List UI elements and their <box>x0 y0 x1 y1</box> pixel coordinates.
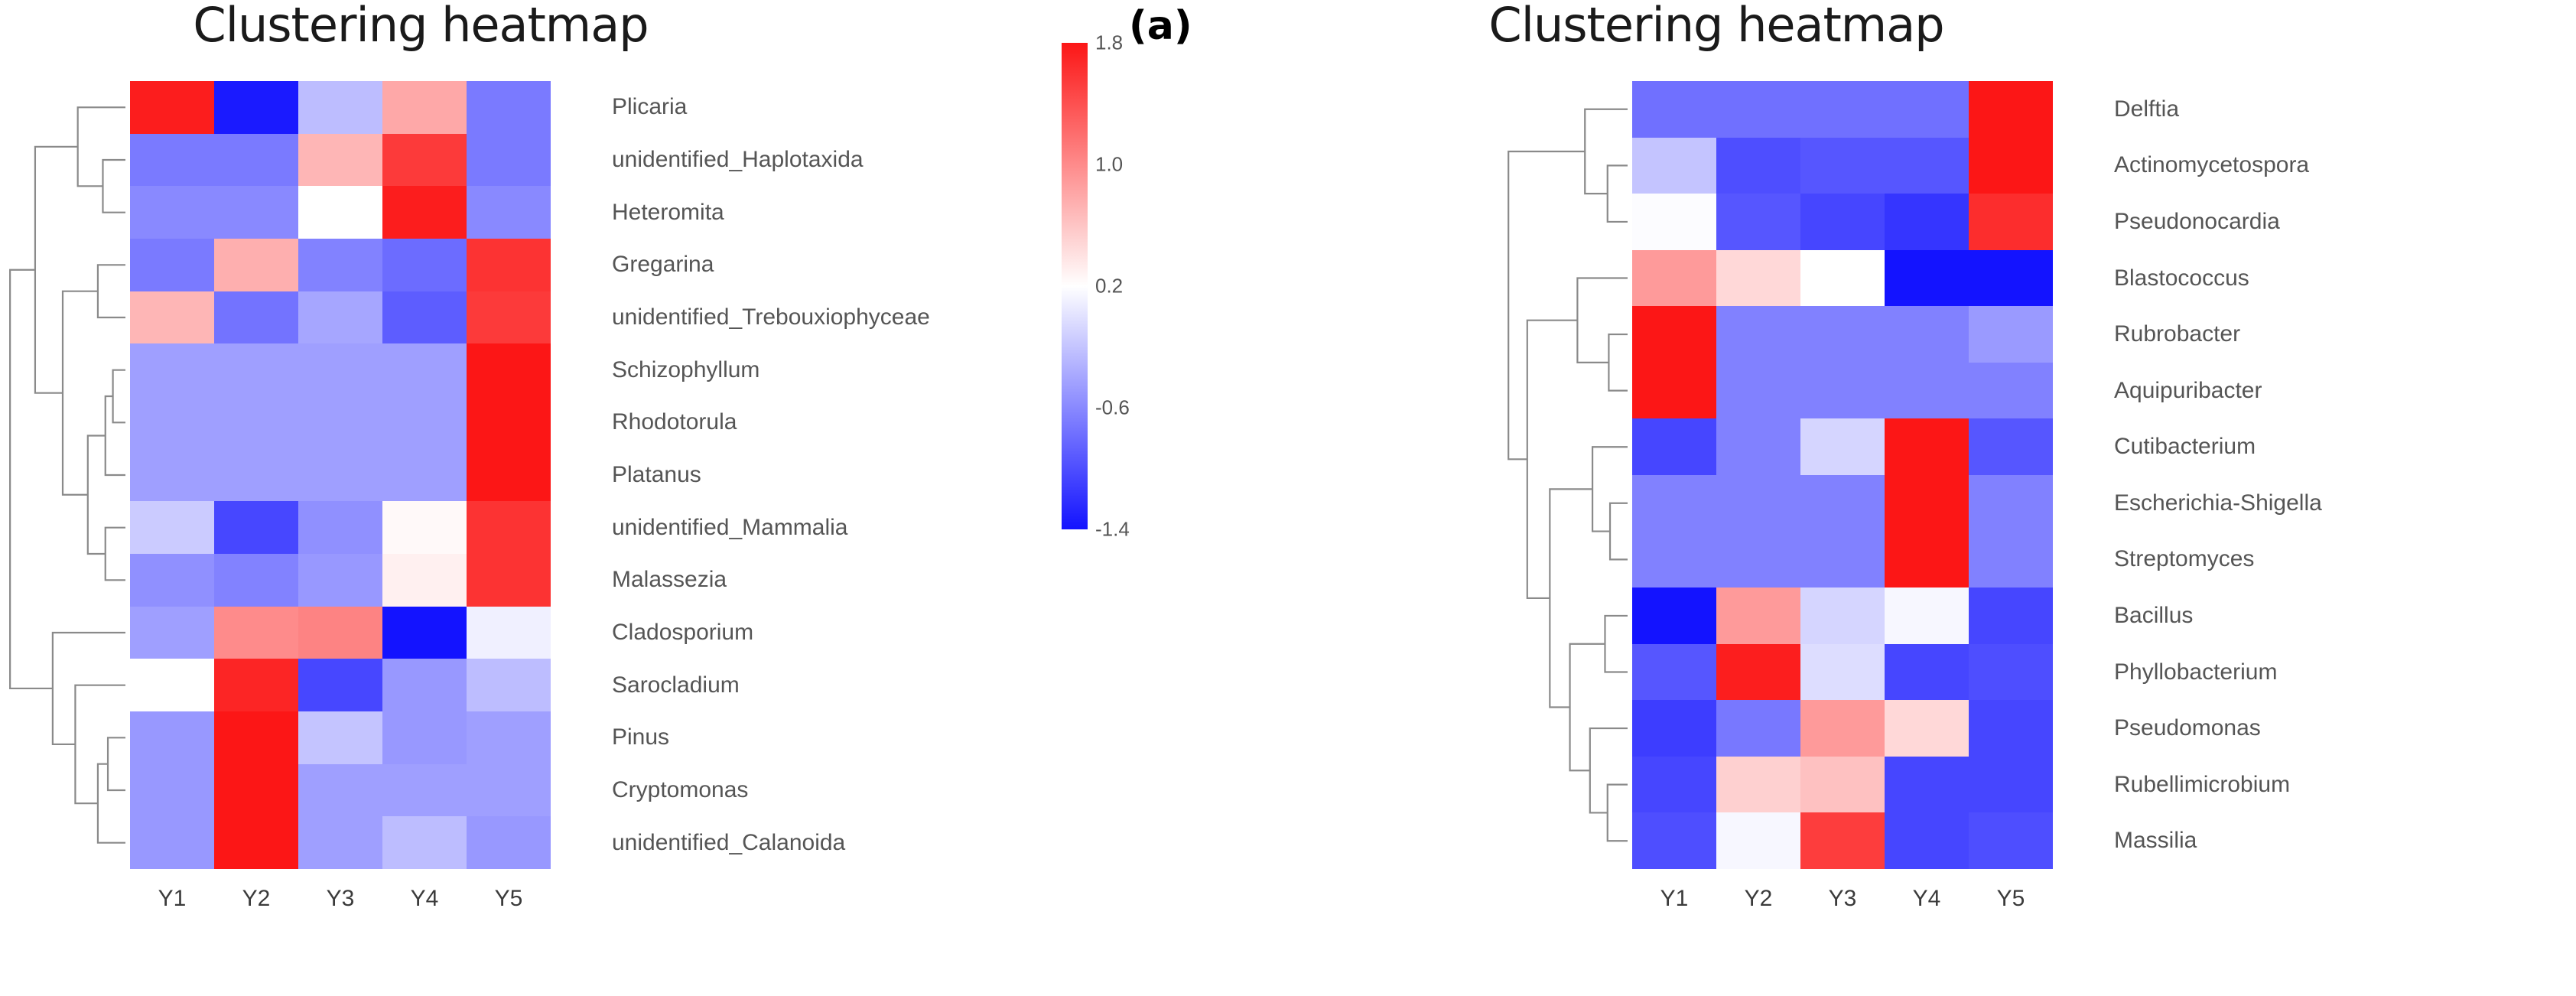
heatmap-cell <box>1716 250 1800 307</box>
row-label: unidentified_Haplotaxida <box>612 148 864 171</box>
heatmap-cell <box>130 501 214 554</box>
heatmap-cell <box>1969 418 2053 475</box>
heatmap-cell <box>1716 700 1800 757</box>
heatmap-cell <box>1632 418 1716 475</box>
heatmap-cell <box>382 449 467 502</box>
heatmap-cell <box>382 711 467 764</box>
heatmap-cell <box>1632 475 1716 532</box>
heatmap-cell <box>214 343 298 396</box>
row-label: Cladosporium <box>612 621 753 644</box>
row-label: unidentified_Trebouxiophyceae <box>612 306 930 329</box>
heatmap-cell <box>382 291 467 344</box>
heatmap-cell <box>1969 81 2053 138</box>
heatmap-cell <box>130 134 214 187</box>
heatmap-cell <box>1800 194 1885 250</box>
heatmap-cell <box>1632 194 1716 250</box>
row-label: Blastococcus <box>2114 267 2249 290</box>
heatmap-cell <box>467 343 551 396</box>
heatmap-cell <box>467 764 551 817</box>
heatmap-cell <box>1885 363 1969 419</box>
panel-b-row-labels: DelftiaActinomycetosporaPseudonocardiaBl… <box>2114 81 2576 869</box>
row-label: Rubrobacter <box>2114 323 2240 346</box>
panel-b-column-labels: Y1Y2Y3Y4Y5 <box>1632 886 2053 921</box>
heatmap-cell <box>214 554 298 607</box>
heatmap-cell <box>1632 700 1716 757</box>
column-label: Y2 <box>1716 886 1800 912</box>
heatmap-cell <box>1716 363 1800 419</box>
heatmap-cell <box>1632 363 1716 419</box>
row-label: Aquipuribacter <box>2114 379 2262 402</box>
heatmap-cell <box>1716 757 1800 813</box>
row-label: unidentified_Calanoida <box>612 832 845 854</box>
panel-b: Clustering heatmap DelftiaActinomycetosp… <box>1288 0 2576 996</box>
heatmap-cell <box>130 449 214 502</box>
heatmap-cell <box>130 554 214 607</box>
heatmap-cell <box>298 764 382 817</box>
row-label: Plicaria <box>612 96 687 119</box>
heatmap-cell <box>1969 532 2053 588</box>
heatmap-cell <box>1800 363 1885 419</box>
heatmap-cell <box>1885 418 1969 475</box>
heatmap-cell <box>1969 644 2053 701</box>
row-label: unidentified_Mammalia <box>612 516 848 539</box>
heatmap-cell <box>214 134 298 187</box>
heatmap-cell <box>1885 700 1969 757</box>
heatmap-cell <box>1969 250 2053 307</box>
heatmap-cell <box>1632 138 1716 194</box>
panel-a-column-labels: Y1Y2Y3Y4Y5 <box>130 886 551 921</box>
heatmap-cell <box>298 816 382 869</box>
heatmap-cell <box>214 239 298 291</box>
heatmap-cell <box>1800 418 1885 475</box>
heatmap-cell <box>467 449 551 502</box>
column-label: Y4 <box>382 886 467 912</box>
row-label: Heteromita <box>612 201 724 224</box>
heatmap-cell <box>382 659 467 711</box>
heatmap-cell <box>467 711 551 764</box>
heatmap-cell <box>298 134 382 187</box>
heatmap-cell <box>1885 812 1969 869</box>
column-label: Y3 <box>298 886 382 912</box>
row-label: Actinomycetospora <box>2114 154 2309 177</box>
column-label: Y1 <box>130 886 214 912</box>
heatmap-cell <box>1885 757 1969 813</box>
heatmap-cell <box>1885 644 1969 701</box>
panel-b-title: Clustering heatmap <box>1410 0 2022 53</box>
heatmap-cell <box>467 239 551 291</box>
column-label: Y5 <box>1969 886 2053 912</box>
row-label: Phyllobacterium <box>2114 661 2277 684</box>
heatmap-cell <box>382 134 467 187</box>
heatmap-cell <box>1969 138 2053 194</box>
heatmap-cell <box>1969 306 2053 363</box>
row-label: Massilia <box>2114 829 2197 852</box>
heatmap-cell <box>1716 644 1800 701</box>
row-label: Cryptomonas <box>612 779 748 802</box>
heatmap-cell <box>130 291 214 344</box>
heatmap-cell <box>467 816 551 869</box>
heatmap-cell <box>214 449 298 502</box>
panel-a-heatmap-grid <box>130 81 551 869</box>
panel-b-row-dendrogram <box>1502 81 1628 869</box>
heatmap-cell <box>467 554 551 607</box>
heatmap-cell <box>1632 812 1716 869</box>
heatmap-cell <box>1969 194 2053 250</box>
heatmap-cell <box>1885 588 1969 644</box>
heatmap-cell <box>382 186 467 239</box>
heatmap-cell <box>1632 588 1716 644</box>
heatmap-cell <box>1716 306 1800 363</box>
heatmap-cell <box>1716 475 1800 532</box>
heatmap-cell <box>130 396 214 449</box>
heatmap-cell <box>130 239 214 291</box>
heatmap-cell <box>382 343 467 396</box>
heatmap-cell <box>1800 306 1885 363</box>
heatmap-cell <box>1885 306 1969 363</box>
heatmap-cell <box>1969 812 2053 869</box>
heatmap-cell <box>214 501 298 554</box>
heatmap-cell <box>1800 81 1885 138</box>
heatmap-cell <box>298 554 382 607</box>
heatmap-cell <box>382 501 467 554</box>
heatmap-cell <box>467 501 551 554</box>
row-label: Gregarina <box>612 253 714 276</box>
row-label: Sarocladium <box>612 674 740 697</box>
heatmap-cell <box>467 607 551 659</box>
heatmap-cell <box>1800 644 1885 701</box>
heatmap-cell <box>1716 81 1800 138</box>
heatmap-cell <box>1632 644 1716 701</box>
heatmap-cell <box>214 396 298 449</box>
colorbar-tick-label: -0.6 <box>1095 396 1130 420</box>
colorbar-tick-label: -1.4 <box>1095 518 1130 542</box>
heatmap-cell <box>1969 363 2053 419</box>
row-label: Schizophyllum <box>612 359 759 382</box>
heatmap-cell <box>214 186 298 239</box>
row-label: Streptomyces <box>2114 548 2254 571</box>
heatmap-cell <box>467 396 551 449</box>
heatmap-cell <box>1800 700 1885 757</box>
heatmap-cell <box>214 764 298 817</box>
panel-a-row-dendrogram <box>0 81 125 869</box>
row-label: Escherichia-Shigella <box>2114 492 2322 515</box>
heatmap-cell <box>1885 475 1969 532</box>
heatmap-cell <box>467 81 551 134</box>
heatmap-cell <box>1885 194 1969 250</box>
heatmap-cell <box>382 396 467 449</box>
heatmap-cell <box>298 711 382 764</box>
row-label: Bacillus <box>2114 604 2193 627</box>
heatmap-cell <box>1885 81 1969 138</box>
heatmap-cell <box>1800 475 1885 532</box>
heatmap-cell <box>382 816 467 869</box>
row-label: Platanus <box>612 464 701 487</box>
heatmap-cell <box>298 449 382 502</box>
heatmap-cell <box>214 816 298 869</box>
colorbar-tick-label: 1.8 <box>1095 31 1123 55</box>
heatmap-cell <box>382 764 467 817</box>
heatmap-cell <box>1632 81 1716 138</box>
panel-b-heatmap-grid <box>1632 81 2053 869</box>
panel-a-colorbar-gradient <box>1062 43 1088 529</box>
clustering-heatmap-figure: Clustering heatmap Plicariaunidentified_… <box>0 0 2576 996</box>
colorbar-tick-label: 0.2 <box>1095 275 1123 298</box>
heatmap-cell <box>382 81 467 134</box>
row-label: Rhodotorula <box>612 411 737 434</box>
heatmap-cell <box>1800 250 1885 307</box>
row-label: Rubellimicrobium <box>2114 773 2290 796</box>
row-label: Delftia <box>2114 98 2179 121</box>
heatmap-cell <box>1969 700 2053 757</box>
heatmap-cell <box>1800 138 1885 194</box>
colorbar-tick-label: 1.0 <box>1095 153 1123 177</box>
heatmap-cell <box>1885 532 1969 588</box>
heatmap-cell <box>214 607 298 659</box>
column-label: Y4 <box>1885 886 1969 912</box>
heatmap-cell <box>298 501 382 554</box>
heatmap-cell <box>382 239 467 291</box>
row-label: Malassezia <box>612 568 727 591</box>
heatmap-cell <box>382 607 467 659</box>
column-label: Y2 <box>214 886 298 912</box>
heatmap-cell <box>130 816 214 869</box>
heatmap-cell <box>467 134 551 187</box>
heatmap-cell <box>1632 250 1716 307</box>
column-label: Y3 <box>1800 886 1885 912</box>
heatmap-cell <box>130 186 214 239</box>
heatmap-cell <box>1716 418 1800 475</box>
heatmap-cell <box>130 764 214 817</box>
heatmap-cell <box>130 711 214 764</box>
heatmap-cell <box>298 239 382 291</box>
heatmap-cell <box>130 343 214 396</box>
heatmap-cell <box>1800 812 1885 869</box>
heatmap-cell <box>1716 812 1800 869</box>
heatmap-cell <box>298 186 382 239</box>
heatmap-cell <box>1969 588 2053 644</box>
row-label: Cutibacterium <box>2114 435 2256 458</box>
heatmap-cell <box>298 396 382 449</box>
column-label: Y5 <box>467 886 551 912</box>
heatmap-cell <box>467 291 551 344</box>
heatmap-cell <box>1885 250 1969 307</box>
heatmap-cell <box>1969 757 2053 813</box>
panel-a-label: (a) <box>1129 3 1192 49</box>
panel-a-colorbar: 1.81.00.2-0.6-1.4 <box>1062 43 1088 529</box>
heatmap-cell <box>1885 138 1969 194</box>
row-label: Pseudomonas <box>2114 717 2261 740</box>
heatmap-cell <box>1716 138 1800 194</box>
heatmap-cell <box>130 659 214 711</box>
panel-a: Clustering heatmap Plicariaunidentified_… <box>0 0 1288 996</box>
row-label: Pinus <box>612 726 669 749</box>
heatmap-cell <box>214 659 298 711</box>
heatmap-cell <box>382 554 467 607</box>
heatmap-cell <box>214 291 298 344</box>
heatmap-cell <box>298 659 382 711</box>
heatmap-cell <box>298 81 382 134</box>
heatmap-cell <box>130 81 214 134</box>
heatmap-cell <box>1632 306 1716 363</box>
heatmap-cell <box>1632 757 1716 813</box>
heatmap-cell <box>1716 194 1800 250</box>
column-label: Y1 <box>1632 886 1716 912</box>
heatmap-cell <box>1716 532 1800 588</box>
heatmap-cell <box>214 81 298 134</box>
heatmap-cell <box>130 607 214 659</box>
heatmap-cell <box>1800 588 1885 644</box>
heatmap-cell <box>214 711 298 764</box>
panel-a-title: Clustering heatmap <box>115 0 727 53</box>
heatmap-cell <box>1800 757 1885 813</box>
row-label: Pseudonocardia <box>2114 210 2280 233</box>
heatmap-cell <box>298 607 382 659</box>
heatmap-cell <box>298 343 382 396</box>
heatmap-cell <box>1632 532 1716 588</box>
heatmap-cell <box>467 186 551 239</box>
heatmap-cell <box>1969 475 2053 532</box>
heatmap-cell <box>298 291 382 344</box>
heatmap-cell <box>1716 588 1800 644</box>
heatmap-cell <box>467 659 551 711</box>
heatmap-cell <box>1800 532 1885 588</box>
